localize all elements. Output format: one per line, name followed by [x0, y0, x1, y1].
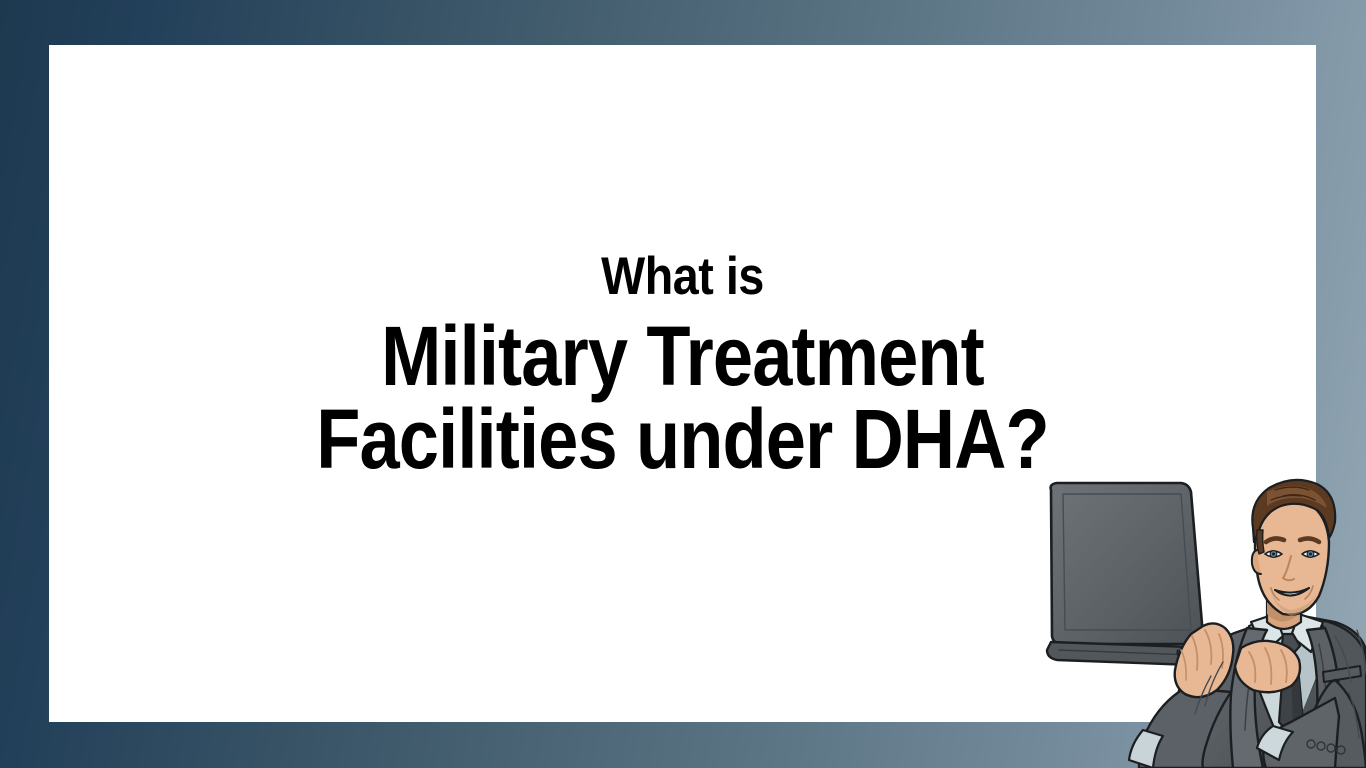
title-headline-line-2: Facilities under DHA? [138, 399, 1228, 480]
slide-content-card: What is Military Treatment Facilities un… [49, 45, 1316, 722]
slide-canvas: What is Military Treatment Facilities un… [0, 0, 1366, 768]
title-eyebrow: What is [125, 250, 1240, 303]
slide-title-block: What is Military Treatment Facilities un… [49, 250, 1316, 479]
title-headline-line-1: Military Treatment [138, 316, 1228, 397]
